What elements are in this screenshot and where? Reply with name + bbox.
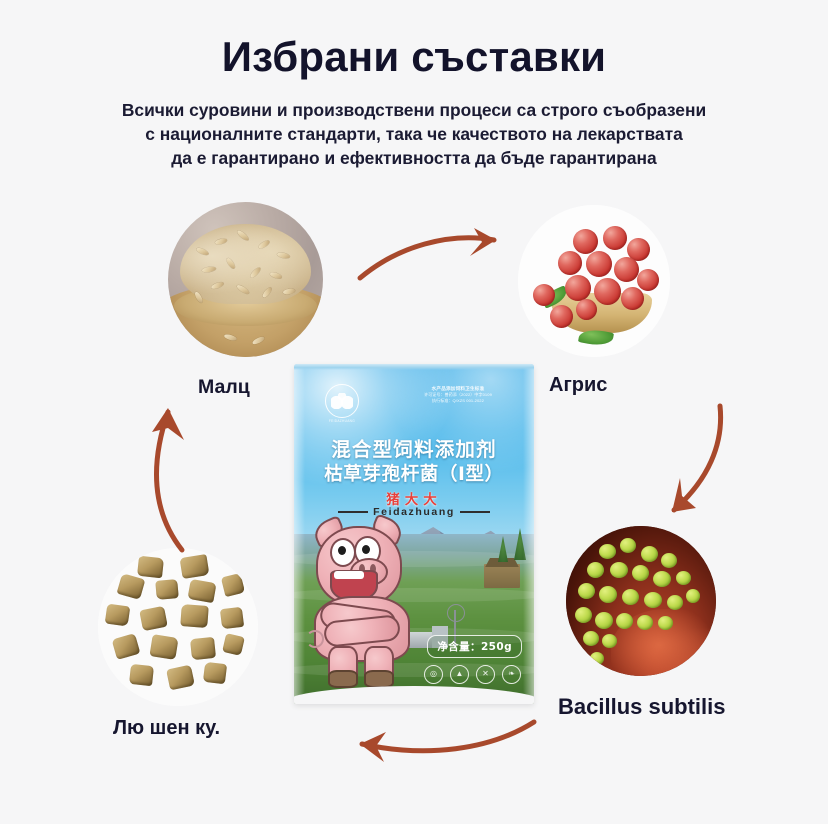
subtitle-line-1: Всички суровини и производствени процеси…	[94, 98, 734, 122]
ingredient-label-soymeal: Лю шен ку.	[113, 717, 220, 740]
package-net-weight-badge: 净含量：250g	[427, 635, 522, 658]
package-brand-logo-icon: FEIDAZHUANG	[325, 384, 359, 418]
target-icon: ◎	[424, 665, 443, 684]
pinyin-rule-right	[460, 511, 490, 512]
package-registration-block: 水产品添加饲料卫生标准 许可证号：兽药添（2022）中字0109 执行标准：Q/…	[404, 385, 512, 404]
page-title: Избрани съставки	[0, 34, 828, 80]
ingredient-label-hawthorn: Агрис	[549, 374, 607, 397]
arrow-soymeal-to-malt-icon	[130, 398, 250, 558]
hawthorn-photo	[518, 205, 670, 357]
ingredient-label-bacillus-subtilis: Bacillus subtilis	[558, 694, 726, 720]
package-barn-large	[484, 564, 520, 588]
package-logo-text: FEIDAZHUANG	[319, 419, 365, 423]
soymeal-photo	[98, 548, 258, 706]
arrow-bacteria-to-soymeal-icon	[330, 714, 540, 794]
factory-icon: ▲	[450, 665, 469, 684]
subtitle-line-3: да е гарантирано и ефективността да бъде…	[94, 146, 734, 170]
ingredient-image-hawthorn	[518, 205, 670, 357]
leaf-icon: ❧	[502, 665, 521, 684]
ingredient-image-bacillus-subtilis	[566, 526, 716, 676]
package-windmill-wheel	[447, 604, 465, 622]
product-package: FEIDAZHUANG 水产品添加饲料卫生标准 许可证号：兽药添（2022）中字…	[294, 364, 534, 704]
header: Избрани съставки Всички суровини и произ…	[0, 0, 828, 170]
ingredient-label-malt: Малц	[198, 376, 250, 399]
package-body: FEIDAZHUANG 水产品添加饲料卫生标准 许可证号：兽药添（2022）中字…	[294, 364, 534, 704]
arrow-malt-to-hawthorn-icon	[358, 216, 518, 302]
package-top-fold	[294, 364, 534, 370]
arrow-hawthorn-to-bacteria-icon	[624, 400, 744, 540]
ingredient-image-soymeal	[98, 548, 258, 706]
bacteria-photo	[566, 526, 716, 676]
package-product-title-line-1: 混合型饲料添加剂	[294, 433, 534, 462]
ingredient-image-malt	[168, 202, 323, 357]
malt-photo	[168, 202, 323, 357]
ingredients-infographic: Избрани съставки Всички суровини и произ…	[0, 0, 828, 824]
registration-line-3: 执行标准：Q/XZS 001-2022	[404, 398, 512, 404]
subtitle-line-2: с националните стандарти, така че качест…	[94, 122, 734, 146]
package-brand-name-chinese: 猪大大	[294, 488, 534, 508]
pinyin-rule-left	[338, 511, 368, 512]
package-pig-mascot	[308, 514, 430, 686]
package-product-title-line-2: 枯草芽孢杆菌（Ⅰ型）	[294, 460, 534, 486]
package-badge-icon-row: ◎ ▲ ✕ ❧	[424, 665, 521, 684]
page-subtitle: Всички суровини и производствени процеси…	[94, 98, 734, 170]
no-antibiotic-icon: ✕	[476, 665, 495, 684]
